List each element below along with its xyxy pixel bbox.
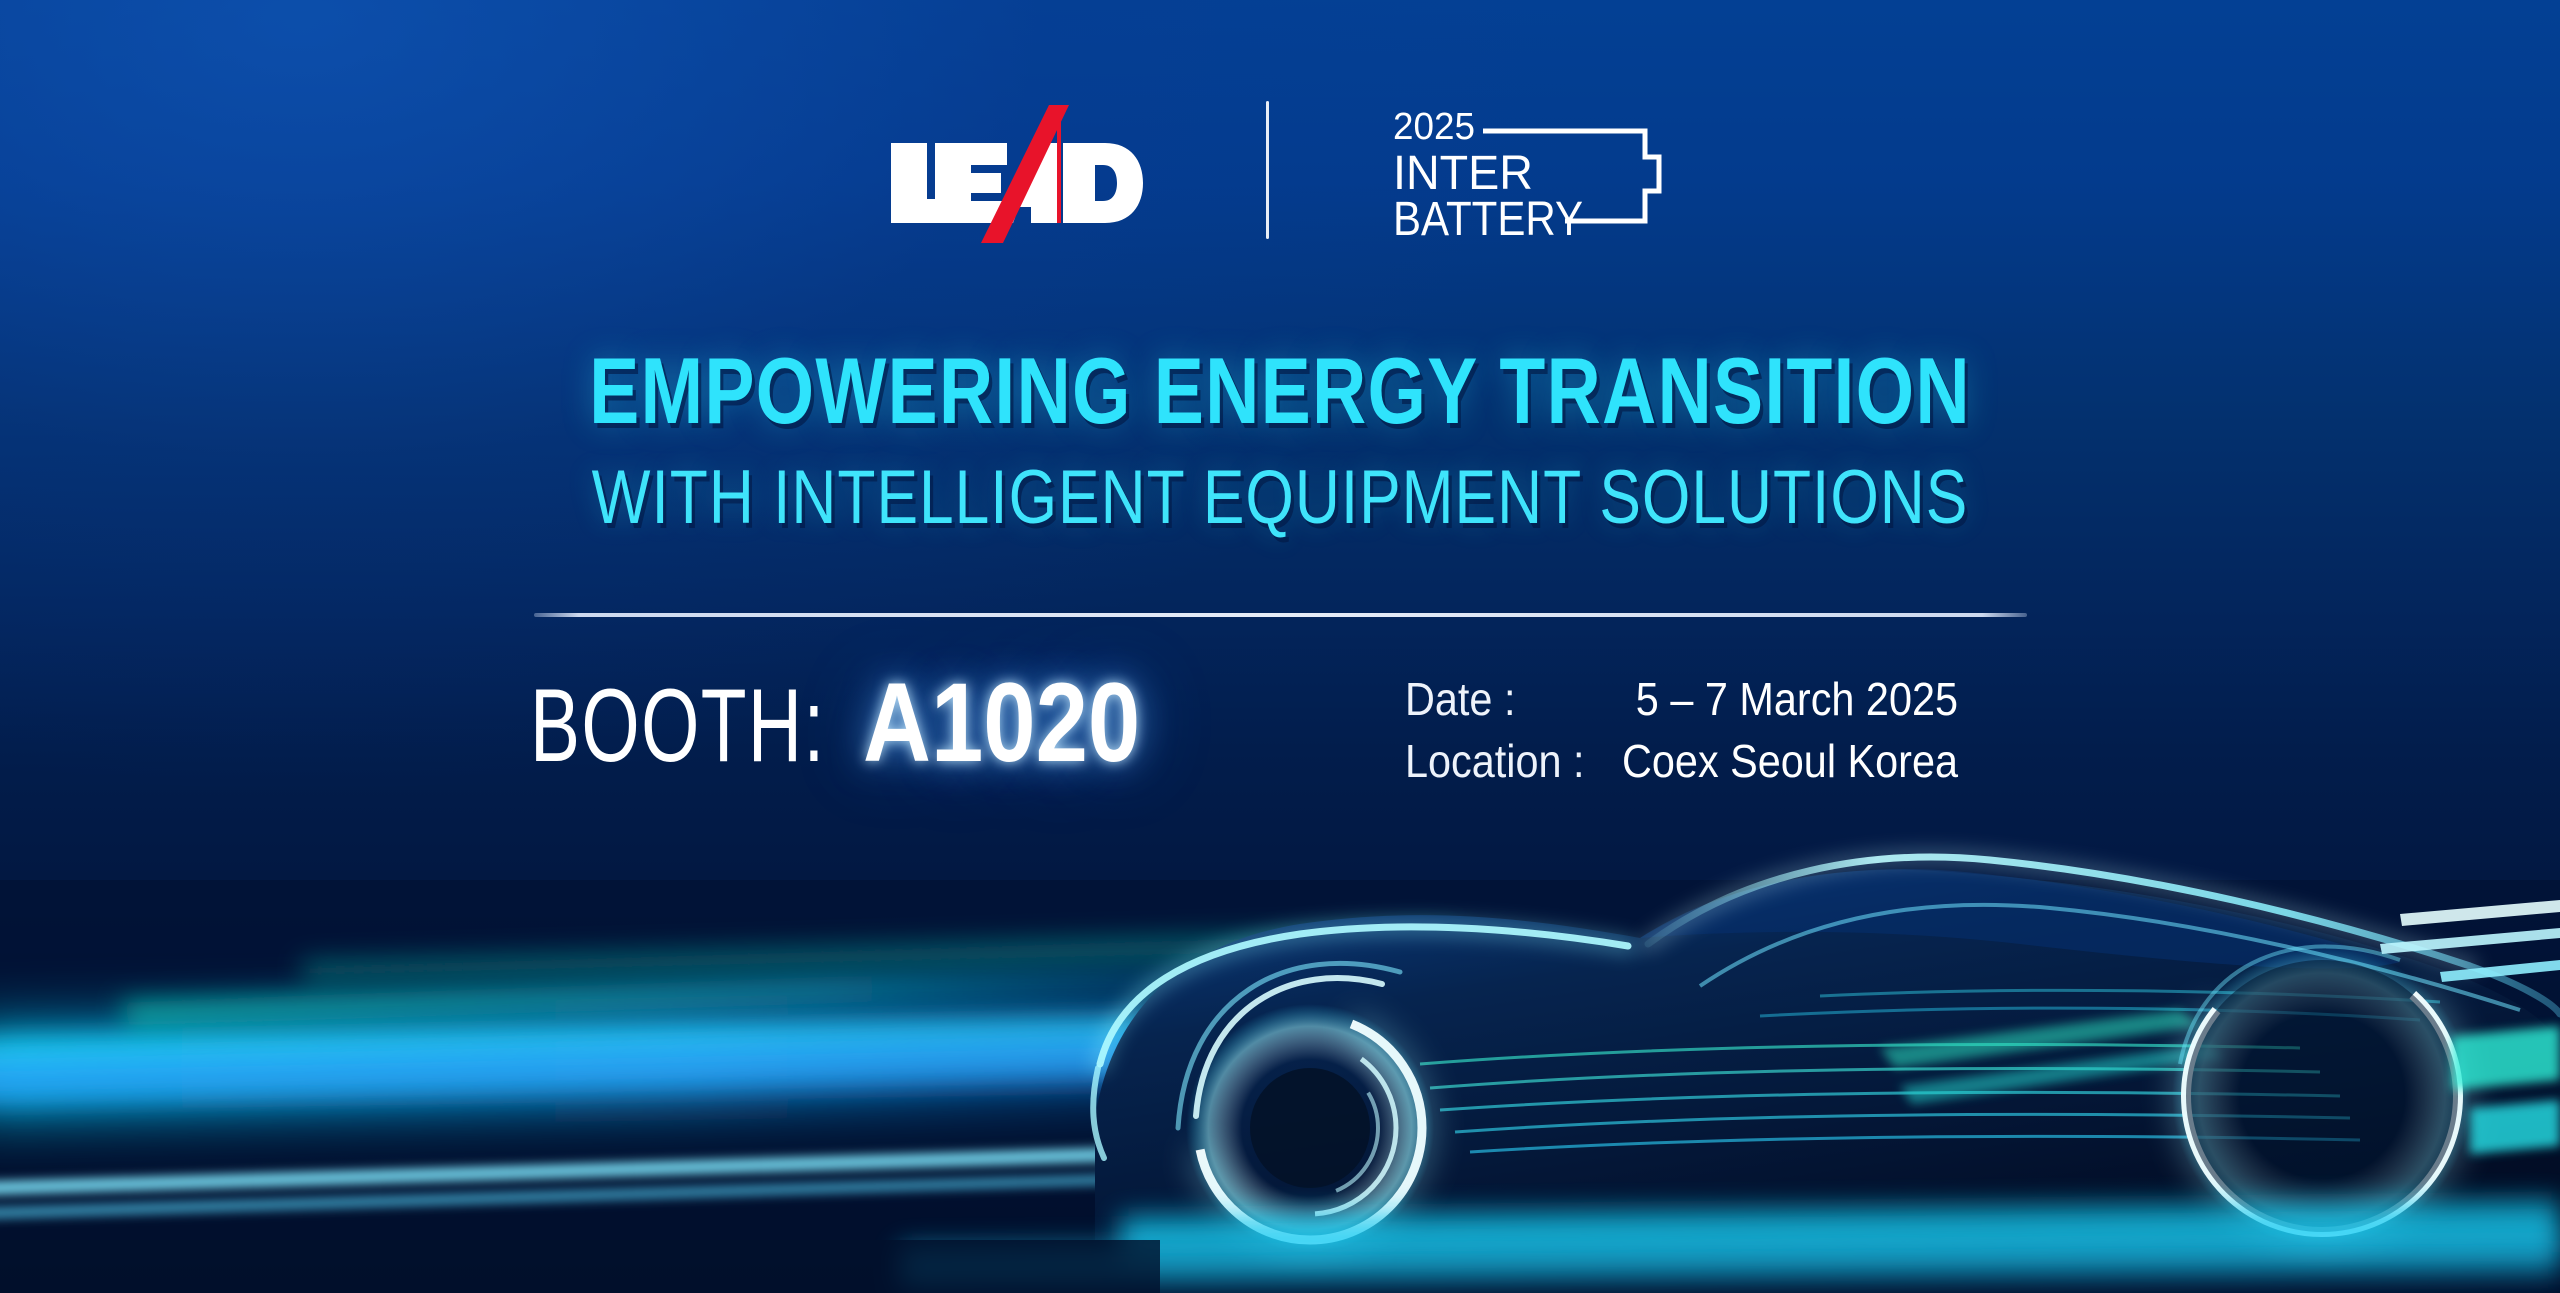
booth-label: BOOTH: — [530, 674, 826, 778]
interbattery-line2: BATTERY — [1393, 193, 1583, 245]
logo-separator — [1266, 101, 1269, 239]
headline-secondary: WITH INTELLIGENT EQUIPMENT SOLUTIONS — [230, 460, 2329, 536]
interbattery-logo: 2025 INTER BATTERY — [1387, 95, 1677, 245]
headline-primary: EMPOWERING ENERGY TRANSITION — [256, 344, 2304, 438]
location-value: Coex Seoul Korea — [1622, 737, 1958, 785]
date-value: 5 – 7 March 2025 — [1622, 675, 1958, 723]
horizontal-divider — [534, 613, 2027, 617]
info-row: BOOTH: A1020 Date : 5 – 7 March 2025 Loc… — [0, 665, 2560, 825]
booth-number: A1020 — [863, 667, 1140, 779]
headline-block: EMPOWERING ENERGY TRANSITION WITH INTELL… — [0, 344, 2560, 536]
promotional-banner: 2025 INTER BATTERY EMPOWERING ENERGY TRA… — [0, 0, 2560, 1293]
booth-block: BOOTH: A1020 — [530, 667, 1193, 779]
logo-row: 2025 INTER BATTERY — [0, 95, 2560, 245]
lead-logo — [883, 95, 1148, 245]
interbattery-year: 2025 — [1393, 106, 1475, 148]
date-label: Date : — [1405, 675, 1585, 723]
event-details: Date : 5 – 7 March 2025 Location : Coex … — [1405, 675, 1996, 786]
location-label: Location : — [1405, 737, 1585, 785]
